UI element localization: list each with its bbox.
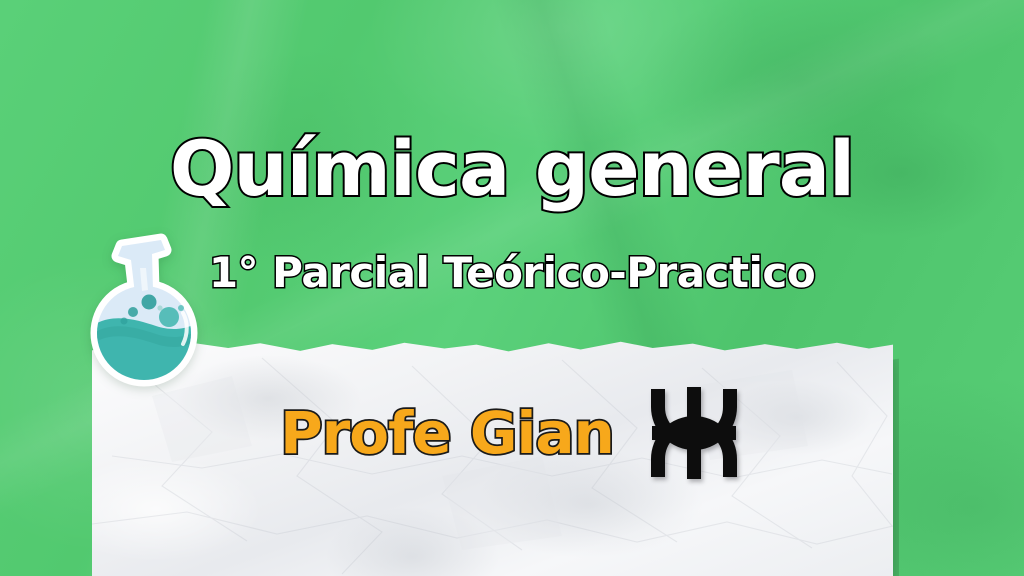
presenter-name: Profe Gian [280, 404, 614, 462]
flask-bubble [157, 305, 162, 310]
flask-bubble [159, 307, 179, 327]
flask-bubble [142, 295, 157, 310]
poster-canvas: Química general 1° Parcial Teórico-Pract… [0, 0, 1024, 576]
page-title: Química general [0, 131, 1024, 207]
presenter-row: Profe Gian [0, 385, 1024, 481]
tifinagh-yaz-glyph-icon [644, 385, 744, 481]
flask-bubble [128, 307, 138, 317]
round-bottom-flask-icon [78, 216, 206, 392]
flask-bubble [121, 318, 128, 325]
page-subtitle: 1° Parcial Teórico-Practico [0, 252, 1024, 294]
flask-bubble [178, 305, 184, 311]
